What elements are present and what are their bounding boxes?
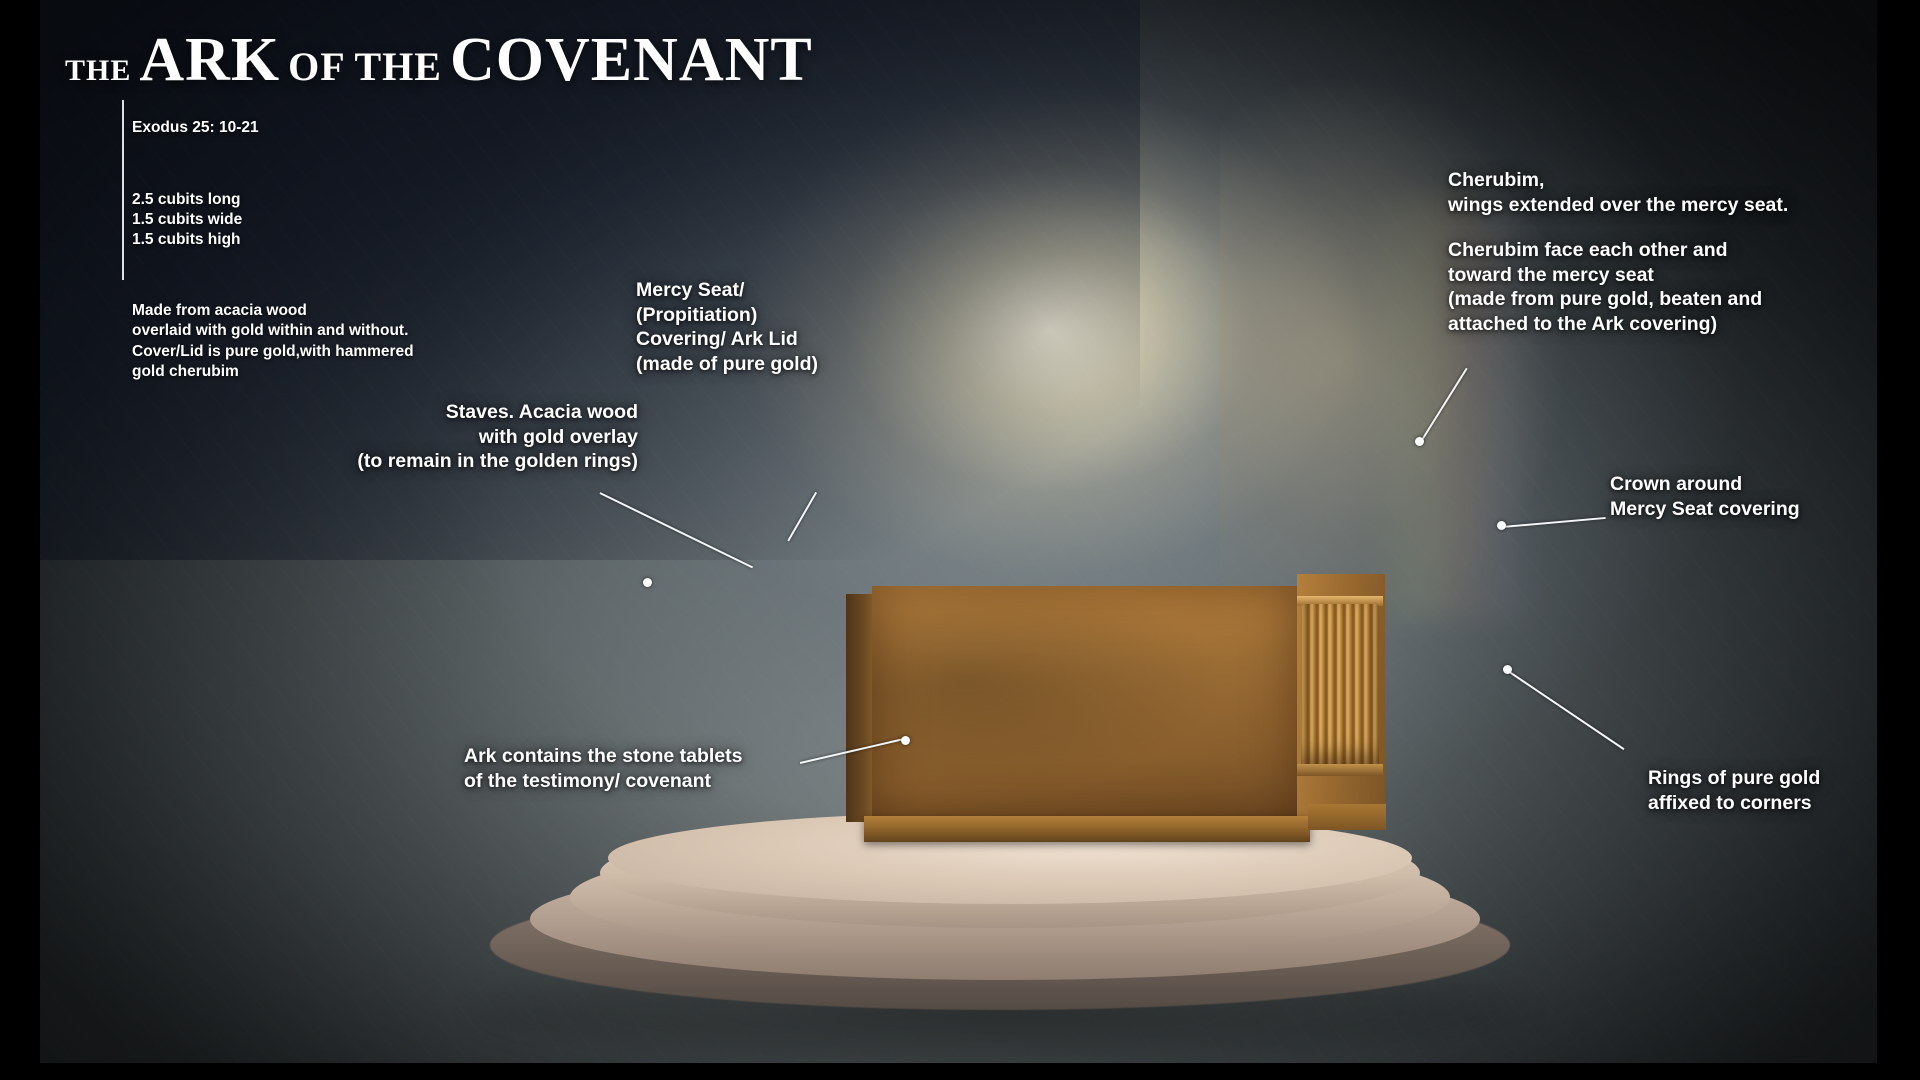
ark-plinth — [864, 816, 1310, 842]
artwork-canvas: THE ARK OF THE COVENANT Exodus 25: 10-21… — [40, 0, 1877, 1063]
frame-border-left — [0, 0, 40, 1080]
leader-dot-cherubim — [1415, 437, 1424, 446]
annotation-cherubim-facing: Cherubim face each other and toward the … — [1448, 238, 1762, 336]
annotation-staves: Staves. Acacia wood with gold overlay (t… — [298, 400, 638, 474]
leader-dot-crown — [1497, 521, 1506, 530]
annotation-tablets: Ark contains the stone tablets of the te… — [464, 744, 742, 793]
title-word-covenant: COVENANT — [450, 26, 813, 94]
gold-ring-left — [40, 402, 80, 450]
leader-dot-staves — [643, 578, 652, 587]
ark-of-the-covenant-infographic: THE ARK OF THE COVENANT Exodus 25: 10-21… — [0, 0, 1920, 1080]
gold-ring-right — [40, 450, 80, 500]
annotation-crown: Crown around Mercy Seat covering — [1610, 472, 1800, 521]
page-title: THE ARK OF THE COVENANT — [65, 25, 813, 96]
cherub-right-body — [40, 312, 108, 407]
ark-plinth-right — [1308, 804, 1386, 830]
ark-panel-sq — [846, 882, 890, 928]
ark-right-flute-base — [1297, 764, 1383, 776]
title-word-ark: ARK — [139, 26, 280, 94]
leader-dot-rings — [1503, 665, 1512, 674]
ark-chest-body — [846, 560, 1391, 860]
frame-border-right — [1877, 0, 1920, 1080]
cherub-left-body — [40, 112, 103, 197]
gold-ring-right-lower — [40, 500, 76, 546]
title-word-of-the: OF THE — [288, 44, 442, 89]
ark-panel-sq — [846, 1020, 890, 1063]
ark-panel-sq — [846, 928, 890, 974]
spec-block: Exodus 25: 10-21 2.5 cubits long 1.5 cub… — [132, 98, 414, 402]
ark-right-fluting — [1301, 604, 1379, 764]
ark-panel-sq — [846, 974, 890, 1020]
materials-text: Made from acacia wood overlaid with gold… — [132, 301, 414, 382]
frame-border-bottom — [0, 1063, 1920, 1080]
annotation-rings: Rings of pure gold affixed to corners — [1648, 766, 1820, 815]
annotation-mercy-seat: Mercy Seat/ (Propitiation) Covering/ Ark… — [636, 278, 818, 376]
leader-dot-tablets — [901, 736, 910, 745]
spec-block-rule — [122, 100, 124, 280]
dimensions-text: 2.5 cubits long 1.5 cubits wide 1.5 cubi… — [132, 190, 414, 250]
scripture-reference: Exodus 25: 10-21 — [132, 118, 414, 138]
title-word-the: THE — [65, 54, 131, 87]
ark-front-face — [872, 586, 1297, 824]
ark-panel-sq — [846, 836, 890, 882]
annotation-cherubim-wings: Cherubim, wings extended over the mercy … — [1448, 168, 1788, 217]
